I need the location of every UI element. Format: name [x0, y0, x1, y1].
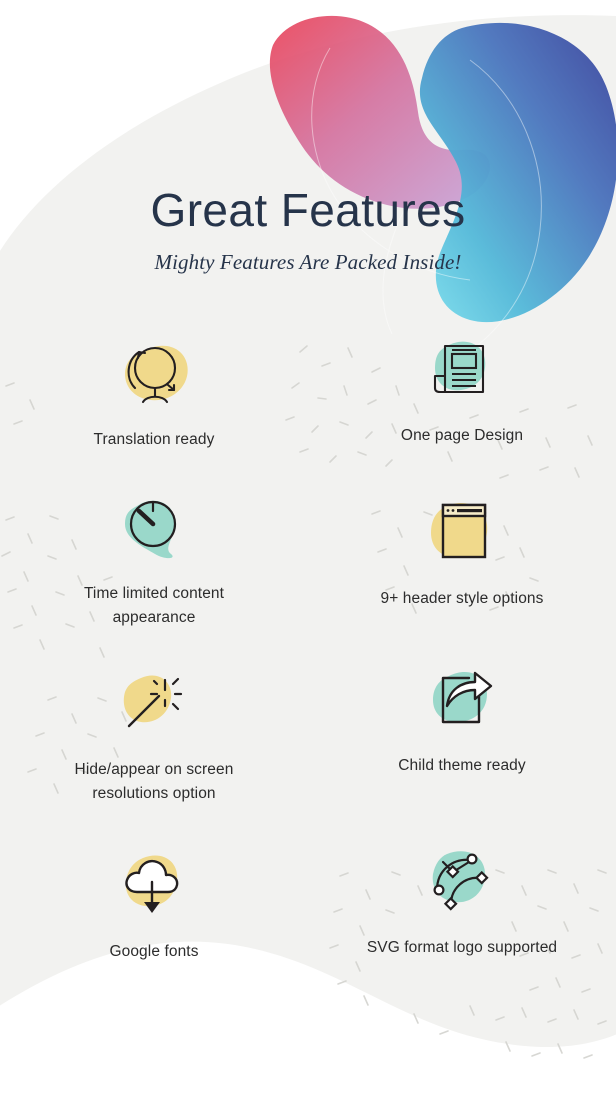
features-row: Hide/appear on screen resolutions option…: [0, 660, 616, 806]
page-subtitle: Mighty Features Are Packed Inside!: [0, 250, 616, 275]
features-row: Translation ready One page Design: [0, 330, 616, 452]
feature-item-translation-ready[interactable]: Translation ready: [0, 330, 308, 452]
cloud-download-icon: [106, 842, 202, 928]
features-row: Google fonts: [0, 842, 616, 964]
feature-item-one-page-design[interactable]: One page Design: [308, 326, 616, 448]
globe-icon: [106, 330, 202, 416]
stopwatch-icon: [106, 484, 202, 570]
feature-item-time-limited-content[interactable]: Time limited content appearance: [0, 484, 308, 630]
features-grid: Translation ready One page Design: [0, 330, 616, 964]
feature-label: Translation ready: [94, 428, 215, 452]
browser-window-icon: [414, 489, 510, 575]
bezier-pen-icon: [414, 838, 510, 924]
feature-label: Hide/appear on screen resolutions option: [49, 758, 259, 806]
feature-label: Google fonts: [109, 940, 198, 964]
feature-label: Child theme ready: [398, 754, 526, 778]
feature-item-svg-logo-supported[interactable]: SVG format logo supported: [308, 838, 616, 960]
feature-showcase-page: Great Features Mighty Features Are Packe…: [0, 0, 616, 1108]
features-row: Time limited content appearance 9+ heade…: [0, 484, 616, 630]
feature-label: One page Design: [401, 424, 523, 448]
magic-wand-icon: [106, 660, 202, 746]
share-arrow-icon: [414, 656, 510, 742]
feature-label: SVG format logo supported: [367, 936, 557, 960]
feature-item-hide-appear-resolutions[interactable]: Hide/appear on screen resolutions option: [0, 660, 308, 806]
feature-item-header-style-options[interactable]: 9+ header style options: [308, 489, 616, 635]
feature-label: 9+ header style options: [380, 587, 543, 611]
feature-item-child-theme-ready[interactable]: Child theme ready: [308, 656, 616, 802]
page-title: Great Features: [0, 186, 616, 234]
newspaper-icon: [414, 326, 510, 412]
feature-item-google-fonts[interactable]: Google fonts: [0, 842, 308, 964]
page-header: Great Features Mighty Features Are Packe…: [0, 186, 616, 275]
feature-label: Time limited content appearance: [49, 582, 259, 630]
